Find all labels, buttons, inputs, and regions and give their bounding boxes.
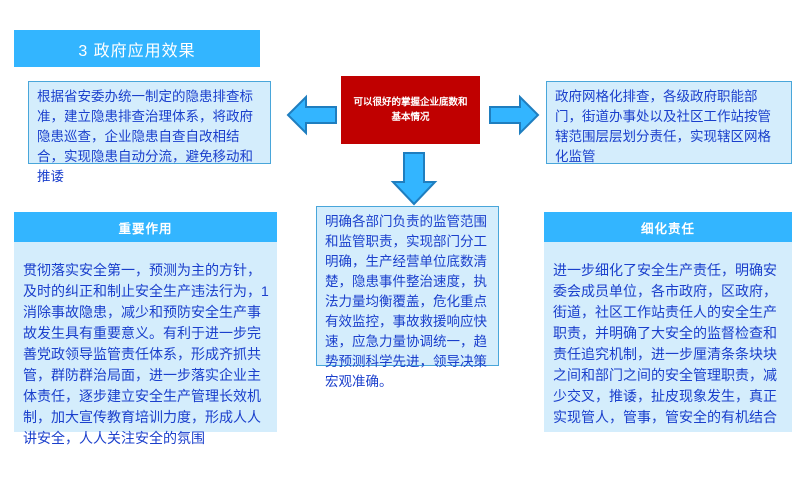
section-title-banner: 3 政府应用效果 xyxy=(14,30,260,67)
arrow-left-icon xyxy=(286,89,338,141)
panel-refine-responsibility-header: 细化责任 xyxy=(544,212,792,242)
diagram-canvas: 3 政府应用效果 根据省安委办统一制定的隐患排查标准，建立隐患排查治理体系，将政… xyxy=(0,0,803,483)
core-statement-box: 可以很好的掌握企业底数和基本情况 xyxy=(341,76,480,144)
card-right-top-text: 政府网格化排查，各级政府职能部门，街道办事处以及社区工作站按管辖范围层层划分责任… xyxy=(555,87,784,167)
card-center-bottom: 明确各部门负责的监管范围和监管职责，实现部门分工明确，生产经营单位底数清楚，隐患… xyxy=(316,206,499,366)
card-left-top-text: 根据省安委办统一制定的隐患排查标准，建立隐患排查治理体系，将政府隐患巡查，企业隐… xyxy=(37,87,263,187)
arrow-down-icon xyxy=(385,150,443,206)
arrow-right-icon xyxy=(488,89,540,141)
panel-important-role-header: 重要作用 xyxy=(14,212,277,242)
card-center-bottom-text: 明确各部门负责的监管范围和监管职责，实现部门分工明确，生产经营单位底数清楚，隐患… xyxy=(325,212,490,392)
panel-important-role-body: 贯彻落实安全第一，预测为主的方针，及时的纠正和制止安全生产违法行为，1消除事故隐… xyxy=(14,212,277,432)
panel-refine-responsibility-header-text: 细化责任 xyxy=(641,218,695,237)
card-left-top: 根据省安委办统一制定的隐患排查标准，建立隐患排查治理体系，将政府隐患巡查，企业隐… xyxy=(28,81,271,164)
card-right-top: 政府网格化排查，各级政府职能部门，街道办事处以及社区工作站按管辖范围层层划分责任… xyxy=(546,81,792,164)
page-title: 3 政府应用效果 xyxy=(78,37,195,61)
panel-refine-responsibility-body: 进一步细化了安全生产责任，明确安委会成员单位，各市政府，区政府，街道，社区工作站… xyxy=(544,212,792,432)
core-statement-text: 可以很好的掌握企业底数和基本情况 xyxy=(350,95,471,125)
panel-important-role: 贯彻落实安全第一，预测为主的方针，及时的纠正和制止安全生产违法行为，1消除事故隐… xyxy=(14,212,277,432)
panel-refine-responsibility: 进一步细化了安全生产责任，明确安委会成员单位，各市政府，区政府，街道，社区工作站… xyxy=(544,212,792,432)
panel-important-role-header-text: 重要作用 xyxy=(118,218,172,237)
